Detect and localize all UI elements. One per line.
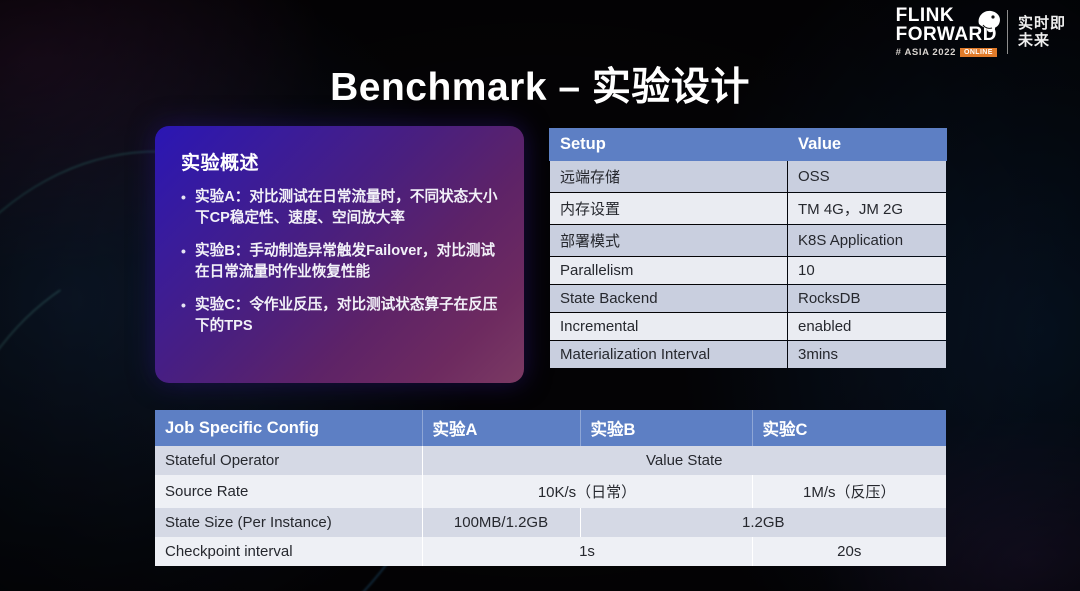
column-header-experiment-c: 实验C xyxy=(752,410,946,446)
list-item: • 实验C：令作业反压，对比测试状态算子在反压下的TPS xyxy=(181,295,498,337)
cell-value: K8S Application xyxy=(788,225,947,257)
table-header-row: Setup Value xyxy=(550,129,947,161)
job-specific-config-table: Job Specific Config 实验A 实验B 实验C Stateful… xyxy=(155,410,946,566)
logo-tagline-line1: 实时即 xyxy=(1018,15,1066,32)
table-row: Incremental enabled xyxy=(550,313,947,341)
bullet-dot-icon: • xyxy=(181,241,195,262)
cell-row-label: Checkpoint interval xyxy=(155,537,422,566)
bullet-text: 实验B：手动制造异常触发Failover，对比测试在日常流量时作业恢复性能 xyxy=(195,241,498,283)
table-row: 内存设置 TM 4G，JM 2G xyxy=(550,193,947,225)
cell-value: 1s xyxy=(422,537,752,566)
table-row: 部署模式 K8S Application xyxy=(550,225,947,257)
cell-setup: Incremental xyxy=(550,313,788,341)
logo-wordmark: FLINK FORWARD # ASIA 2022 ONLINE xyxy=(896,6,997,58)
column-header-experiment-a: 实验A xyxy=(422,410,580,446)
table-row: Source Rate 10K/s（日常） 1M/s（反压） xyxy=(155,475,946,508)
overview-heading: 实验概述 xyxy=(181,148,524,175)
cell-row-label: Source Rate xyxy=(155,475,422,508)
cell-setup: State Backend xyxy=(550,285,788,313)
setup-value-table: Setup Value 远端存储 OSS 内存设置 TM 4G，JM 2G 部署… xyxy=(549,128,947,369)
overview-bullet-list: • 实验A：对比测试在日常流量时，不同状态大小下CP稳定性、速度、空间放大率 •… xyxy=(155,187,524,337)
page-title: Benchmark – 实验设计 xyxy=(0,56,1080,112)
cell-value: enabled xyxy=(788,313,947,341)
cell-row-label: State Size (Per Instance) xyxy=(155,508,422,537)
logo-tagline-line2: 未来 xyxy=(1018,32,1066,49)
table-row: Checkpoint interval 1s 20s xyxy=(155,537,946,566)
logo-tagline: 实时即 未来 xyxy=(1018,15,1066,49)
slide: FLINK FORWARD # ASIA 2022 ONLINE 实时即 未来 … xyxy=(0,0,1080,591)
logo-line-flink: FLINK xyxy=(896,6,954,25)
cell-value: 3mins xyxy=(788,341,947,369)
bullet-text: 实验C：令作业反压，对比测试状态算子在反压下的TPS xyxy=(195,295,498,337)
flink-forward-logo: FLINK FORWARD # ASIA 2022 ONLINE 实时即 未来 xyxy=(896,6,1066,58)
cell-setup: 部署模式 xyxy=(550,225,788,257)
list-item: • 实验A：对比测试在日常流量时，不同状态大小下CP稳定性、速度、空间放大率 xyxy=(181,187,498,229)
flink-squirrel-icon xyxy=(973,8,1003,39)
cell-value: 100MB/1.2GB xyxy=(422,508,580,537)
logo-divider xyxy=(1007,10,1008,54)
cell-value: TM 4G，JM 2G xyxy=(788,193,947,225)
table-header-row: Job Specific Config 实验A 实验B 实验C xyxy=(155,410,946,446)
column-header-value: Value xyxy=(788,129,947,161)
cell-value: RocksDB xyxy=(788,285,947,313)
list-item: • 实验B：手动制造异常触发Failover，对比测试在日常流量时作业恢复性能 xyxy=(181,241,498,283)
column-header-job-config: Job Specific Config xyxy=(155,410,422,446)
table-row: State Size (Per Instance) 100MB/1.2GB 1.… xyxy=(155,508,946,537)
cell-value: 20s xyxy=(752,537,946,566)
table-row: 远端存储 OSS xyxy=(550,161,947,193)
table-row: Stateful Operator Value State xyxy=(155,446,946,475)
cell-setup: Parallelism xyxy=(550,257,788,285)
table-row: Parallelism 10 xyxy=(550,257,947,285)
column-header-setup: Setup xyxy=(550,129,788,161)
column-header-experiment-b: 实验B xyxy=(580,410,752,446)
cell-value: Value State xyxy=(422,446,946,475)
bullet-dot-icon: • xyxy=(181,295,195,316)
cell-setup: Materialization Interval xyxy=(550,341,788,369)
cell-value: 10 xyxy=(788,257,947,285)
cell-value: OSS xyxy=(788,161,947,193)
overview-card: 实验概述 • 实验A：对比测试在日常流量时，不同状态大小下CP稳定性、速度、空间… xyxy=(155,126,524,383)
cell-row-label: Stateful Operator xyxy=(155,446,422,475)
cell-value: 1.2GB xyxy=(580,508,946,537)
table-row: Materialization Interval 3mins xyxy=(550,341,947,369)
bullet-dot-icon: • xyxy=(181,187,195,208)
table-row: State Backend RocksDB xyxy=(550,285,947,313)
bullet-text: 实验A：对比测试在日常流量时，不同状态大小下CP稳定性、速度、空间放大率 xyxy=(195,187,498,229)
cell-value: 10K/s（日常） xyxy=(422,475,752,508)
cell-setup: 内存设置 xyxy=(550,193,788,225)
cell-value: 1M/s（反压） xyxy=(752,475,946,508)
cell-setup: 远端存储 xyxy=(550,161,788,193)
